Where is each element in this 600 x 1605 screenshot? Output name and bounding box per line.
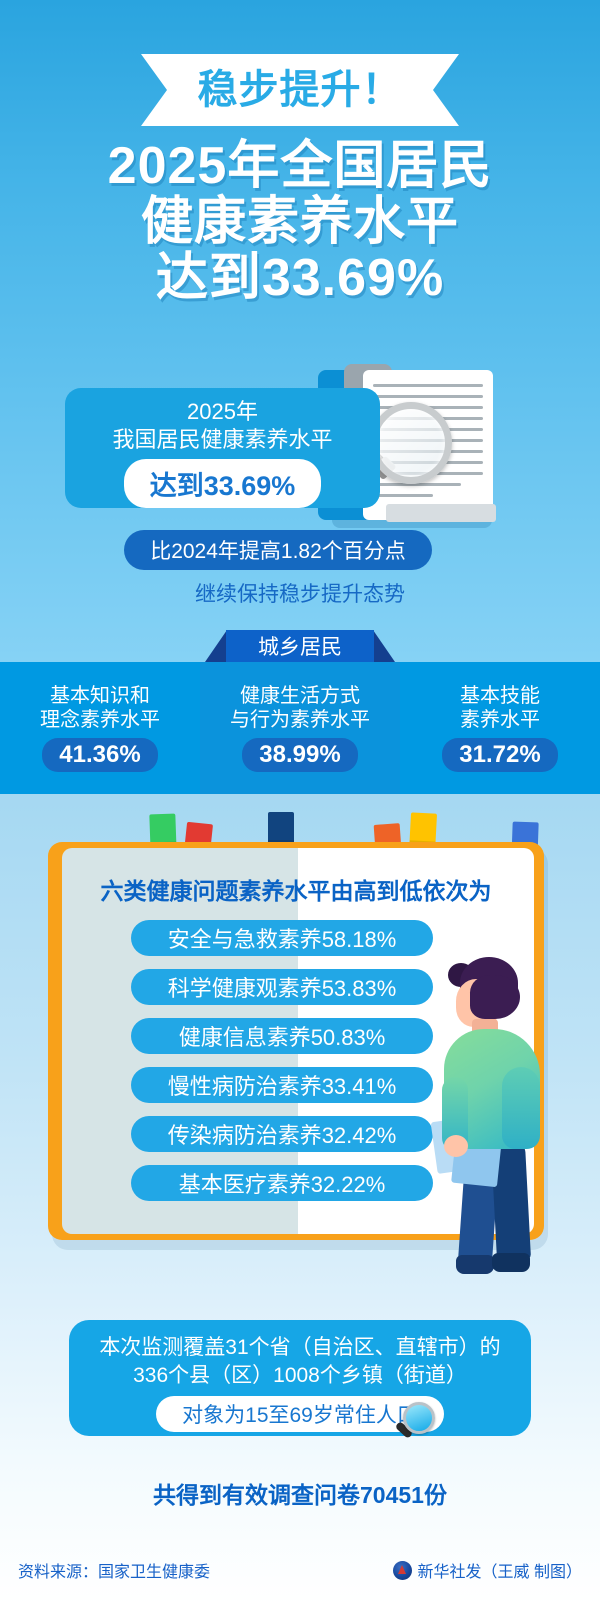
category-badge-2: 科学健康观素养53.83% [131, 969, 433, 1005]
trend-note: 继续保持稳步提升态势 [0, 578, 600, 608]
page-title: 2025年全国居民 健康素养水平 达到33.69% [0, 138, 600, 306]
credit-note: 新华社发（王威 制图） [393, 1558, 582, 1582]
headline-line-2: 健康素养水平 [0, 194, 600, 250]
cohort-column-knowledge: 基本知识和 理念素养水平 41.36% [0, 662, 200, 794]
cohort-column-label-3b: 素养水平 [460, 708, 540, 732]
person-hand [444, 1135, 468, 1157]
book-section-title: 六类健康问题素养水平由高到低依次为 [48, 872, 544, 906]
cohort-column-label-2b: 与行为素养水平 [230, 708, 370, 732]
cohort-column-label-1a: 基本知识和 [50, 684, 150, 708]
cohort-column-label-3a: 基本技能 [460, 684, 540, 708]
survey-scope-card: 本次监测覆盖31个省（自治区、直辖市）的 336个县（区）1008个乡镇（街道）… [69, 1320, 531, 1436]
cohort-column-label-2a: 健康生活方式 [240, 684, 360, 708]
cohort-column-value-1: 41.36% [42, 738, 157, 772]
source-note: 资料来源：国家卫生健康委 [18, 1558, 210, 1582]
stat-year: 2025年 [187, 398, 258, 426]
document-base [386, 504, 496, 522]
magnifier-icon [370, 402, 452, 484]
cohort-header-label: 城乡居民 [226, 630, 374, 662]
cohort-column-lifestyle: 健康生活方式 与行为素养水平 38.99% [200, 662, 400, 794]
survey-line-2: 336个县（区）1008个乡镇（街道） [133, 1362, 467, 1390]
cohort-columns: 基本知识和 理念素养水平 41.36% 健康生活方式 与行为素养水平 38.99… [0, 662, 600, 794]
stat-value-badge: 达到33.69% [124, 459, 322, 508]
small-magnifier-lens [403, 1402, 435, 1434]
xinhua-logo-icon [393, 1561, 412, 1580]
small-magnifier-icon [395, 1402, 437, 1444]
banner-ribbon: 稳步提升！ [141, 54, 459, 126]
survey-line-1: 本次监测覆盖31个省（自治区、直辖市）的 [99, 1334, 500, 1362]
person-hair-side [470, 975, 520, 1019]
person-arm-right [502, 1067, 540, 1149]
cohort-column-label-1b: 理念素养水平 [40, 708, 160, 732]
headline-line-1: 2025年全国居民 [0, 138, 600, 194]
total-questionnaires: 共得到有效调查问卷70451份 [0, 1476, 600, 1510]
person-shoe-left [456, 1255, 494, 1274]
person-illustration [436, 957, 552, 1278]
category-badge-5: 传染病防治素养32.42% [131, 1116, 433, 1152]
banner-text: 稳步提升！ [198, 70, 403, 110]
cohort-column-value-2: 38.99% [242, 738, 357, 772]
comparison-badge: 比2024年提高1.82个百分点 [124, 530, 432, 570]
cohort-column-skills: 基本技能 素养水平 31.72% [400, 662, 600, 794]
category-badge-4: 慢性病防治素养33.41% [131, 1067, 433, 1103]
person-shoe-right [492, 1253, 530, 1272]
headline-line-3: 达到33.69% [0, 250, 600, 306]
stat-subject: 我国居民健康素养水平 [112, 426, 332, 454]
category-badge-1: 安全与急救素养58.18% [131, 920, 433, 956]
category-badge-3: 健康信息素养50.83% [131, 1018, 433, 1054]
headline-stat-card: 2025年 我国居民健康素养水平 达到33.69% [65, 388, 380, 508]
category-badge-6: 基本医疗素养32.22% [131, 1165, 433, 1201]
cohort-column-value-3: 31.72% [442, 738, 557, 772]
credit-text: 新华社发（王威 制图） [418, 1558, 582, 1582]
